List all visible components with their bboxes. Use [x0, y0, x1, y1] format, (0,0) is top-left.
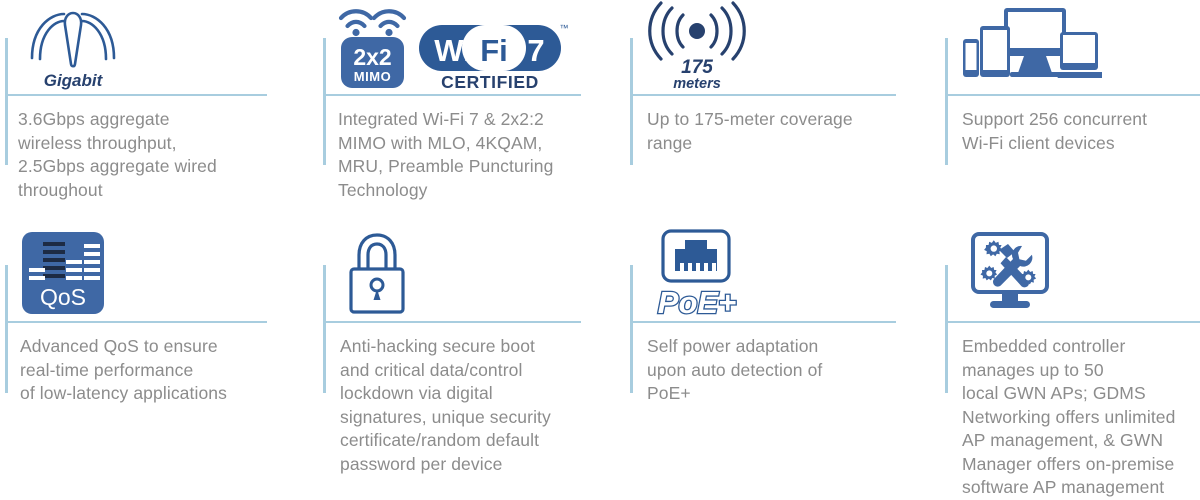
qos-equalizer-icon: QoS	[22, 227, 104, 319]
accent-horizontal-divider	[630, 94, 896, 96]
multi-device-icon	[962, 0, 1102, 92]
accent-horizontal-divider	[5, 94, 267, 96]
accent-horizontal-divider	[323, 94, 581, 96]
accent-vertical-bar	[630, 38, 633, 165]
feature-row-top: Gigabit 3.6Gbps aggregate wireless throu…	[0, 0, 1200, 225]
coverage-value: 175	[681, 57, 713, 78]
poe-caption: PoE+	[658, 285, 736, 319]
feature-description: Embedded controller manages up to 50 loc…	[962, 335, 1200, 500]
feature-card-clients: Support 256 concurrent Wi-Fi client devi…	[940, 0, 1200, 225]
accent-vertical-bar	[945, 265, 948, 393]
monitor-tools-icon	[964, 227, 1056, 319]
wifi-logo-number: 7	[527, 33, 544, 68]
feature-description: Up to 175-meter coverage range	[647, 108, 909, 155]
feature-description: Anti-hacking secure boot and critical da…	[340, 335, 602, 476]
feature-card-qos: QoS Advanced QoS to ensure real-time per…	[0, 225, 318, 487]
accent-horizontal-divider	[945, 94, 1200, 96]
feature-card-gigabit: Gigabit 3.6Gbps aggregate wireless throu…	[0, 0, 318, 225]
feature-row-bottom: QoS Advanced QoS to ensure real-time per…	[0, 225, 1200, 487]
accent-vertical-bar	[945, 38, 948, 165]
accent-vertical-bar	[630, 265, 633, 393]
ethernet-port-icon: PoE+	[649, 227, 749, 319]
wifi-logo-wi: Wi	[434, 33, 472, 68]
accent-horizontal-divider	[630, 321, 896, 323]
gigabit-antenna-icon: Gigabit	[18, 0, 128, 92]
accent-horizontal-divider	[5, 321, 267, 323]
coverage-unit: meters	[673, 76, 721, 91]
accent-vertical-bar	[323, 265, 326, 393]
feature-description: Integrated Wi-Fi 7 & 2x2:2 MIMO with MLO…	[338, 108, 590, 202]
feature-card-poe: PoE+ Self power adaptation upon auto det…	[625, 225, 940, 487]
wifi-logo-certified: CERTIFIED	[441, 72, 539, 91]
gigabit-caption: Gigabit	[44, 71, 104, 90]
accent-vertical-bar	[5, 38, 8, 165]
feature-card-security: Anti-hacking secure boot and critical da…	[318, 225, 625, 487]
accent-vertical-bar	[5, 265, 8, 393]
accent-horizontal-divider	[323, 321, 581, 323]
accent-vertical-bar	[323, 38, 326, 165]
feature-description: Advanced QoS to ensure real-time perform…	[20, 335, 282, 406]
wifi-7-certified-logo: 2x2 MIMO Wi Fi 7 ™ CERTIFIED	[335, 0, 571, 92]
padlock-icon	[342, 227, 412, 319]
mimo-badge-primary: 2x2	[353, 44, 391, 70]
wifi-logo-trademark: ™	[560, 23, 569, 33]
wifi-logo-fi: Fi	[480, 33, 508, 68]
wireless-coverage-icon: 175 meters	[647, 0, 747, 92]
feature-card-wifi7: 2x2 MIMO Wi Fi 7 ™ CERTIFIED Integrated …	[318, 0, 625, 225]
mimo-badge-secondary: MIMO	[354, 69, 391, 84]
feature-description: Self power adaptation upon auto detectio…	[647, 335, 909, 406]
qos-caption: QoS	[40, 284, 86, 310]
feature-card-management: Embedded controller manages up to 50 loc…	[940, 225, 1200, 487]
feature-description: 3.6Gbps aggregate wireless throughput, 2…	[18, 108, 280, 202]
feature-card-coverage: 175 meters Up to 175-meter coverage rang…	[625, 0, 940, 225]
feature-description: Support 256 concurrent Wi-Fi client devi…	[962, 108, 1200, 155]
feature-grid: Gigabit 3.6Gbps aggregate wireless throu…	[0, 0, 1200, 487]
accent-horizontal-divider	[945, 321, 1200, 323]
